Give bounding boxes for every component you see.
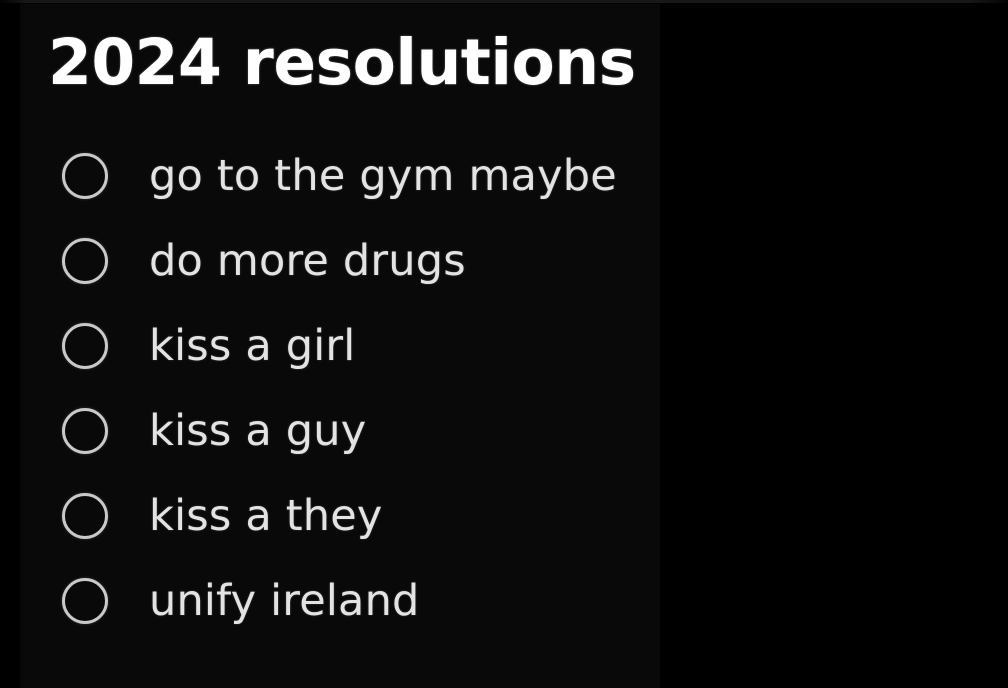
- circle-outline-icon[interactable]: [62, 238, 108, 284]
- circle-outline-icon[interactable]: [62, 323, 108, 369]
- list-item[interactable]: unify ireland: [0, 558, 1008, 643]
- list-item[interactable]: go to the gym maybe: [0, 133, 1008, 218]
- list-item[interactable]: kiss a girl: [0, 303, 1008, 388]
- list-item[interactable]: kiss a they: [0, 473, 1008, 558]
- page-title: 2024 resolutions: [48, 28, 636, 98]
- screenshot-root: 2024 resolutions go to the gym maybe do …: [0, 0, 1008, 688]
- list-item-label: do more drugs: [149, 236, 466, 286]
- list-item-label: kiss a guy: [149, 406, 366, 456]
- list-item-label: kiss a girl: [149, 321, 355, 371]
- list-item[interactable]: kiss a guy: [0, 388, 1008, 473]
- circle-outline-icon[interactable]: [62, 578, 108, 624]
- circle-outline-icon[interactable]: [62, 408, 108, 454]
- list-item-label: unify ireland: [149, 576, 420, 626]
- circle-outline-icon[interactable]: [62, 493, 108, 539]
- list-item-label: kiss a they: [149, 491, 383, 541]
- resolutions-checklist: go to the gym maybe do more drugs kiss a…: [0, 133, 1008, 643]
- circle-outline-icon[interactable]: [62, 153, 108, 199]
- list-item[interactable]: do more drugs: [0, 218, 1008, 303]
- top-edge-band: [0, 0, 1008, 3]
- list-item-label: go to the gym maybe: [149, 151, 617, 201]
